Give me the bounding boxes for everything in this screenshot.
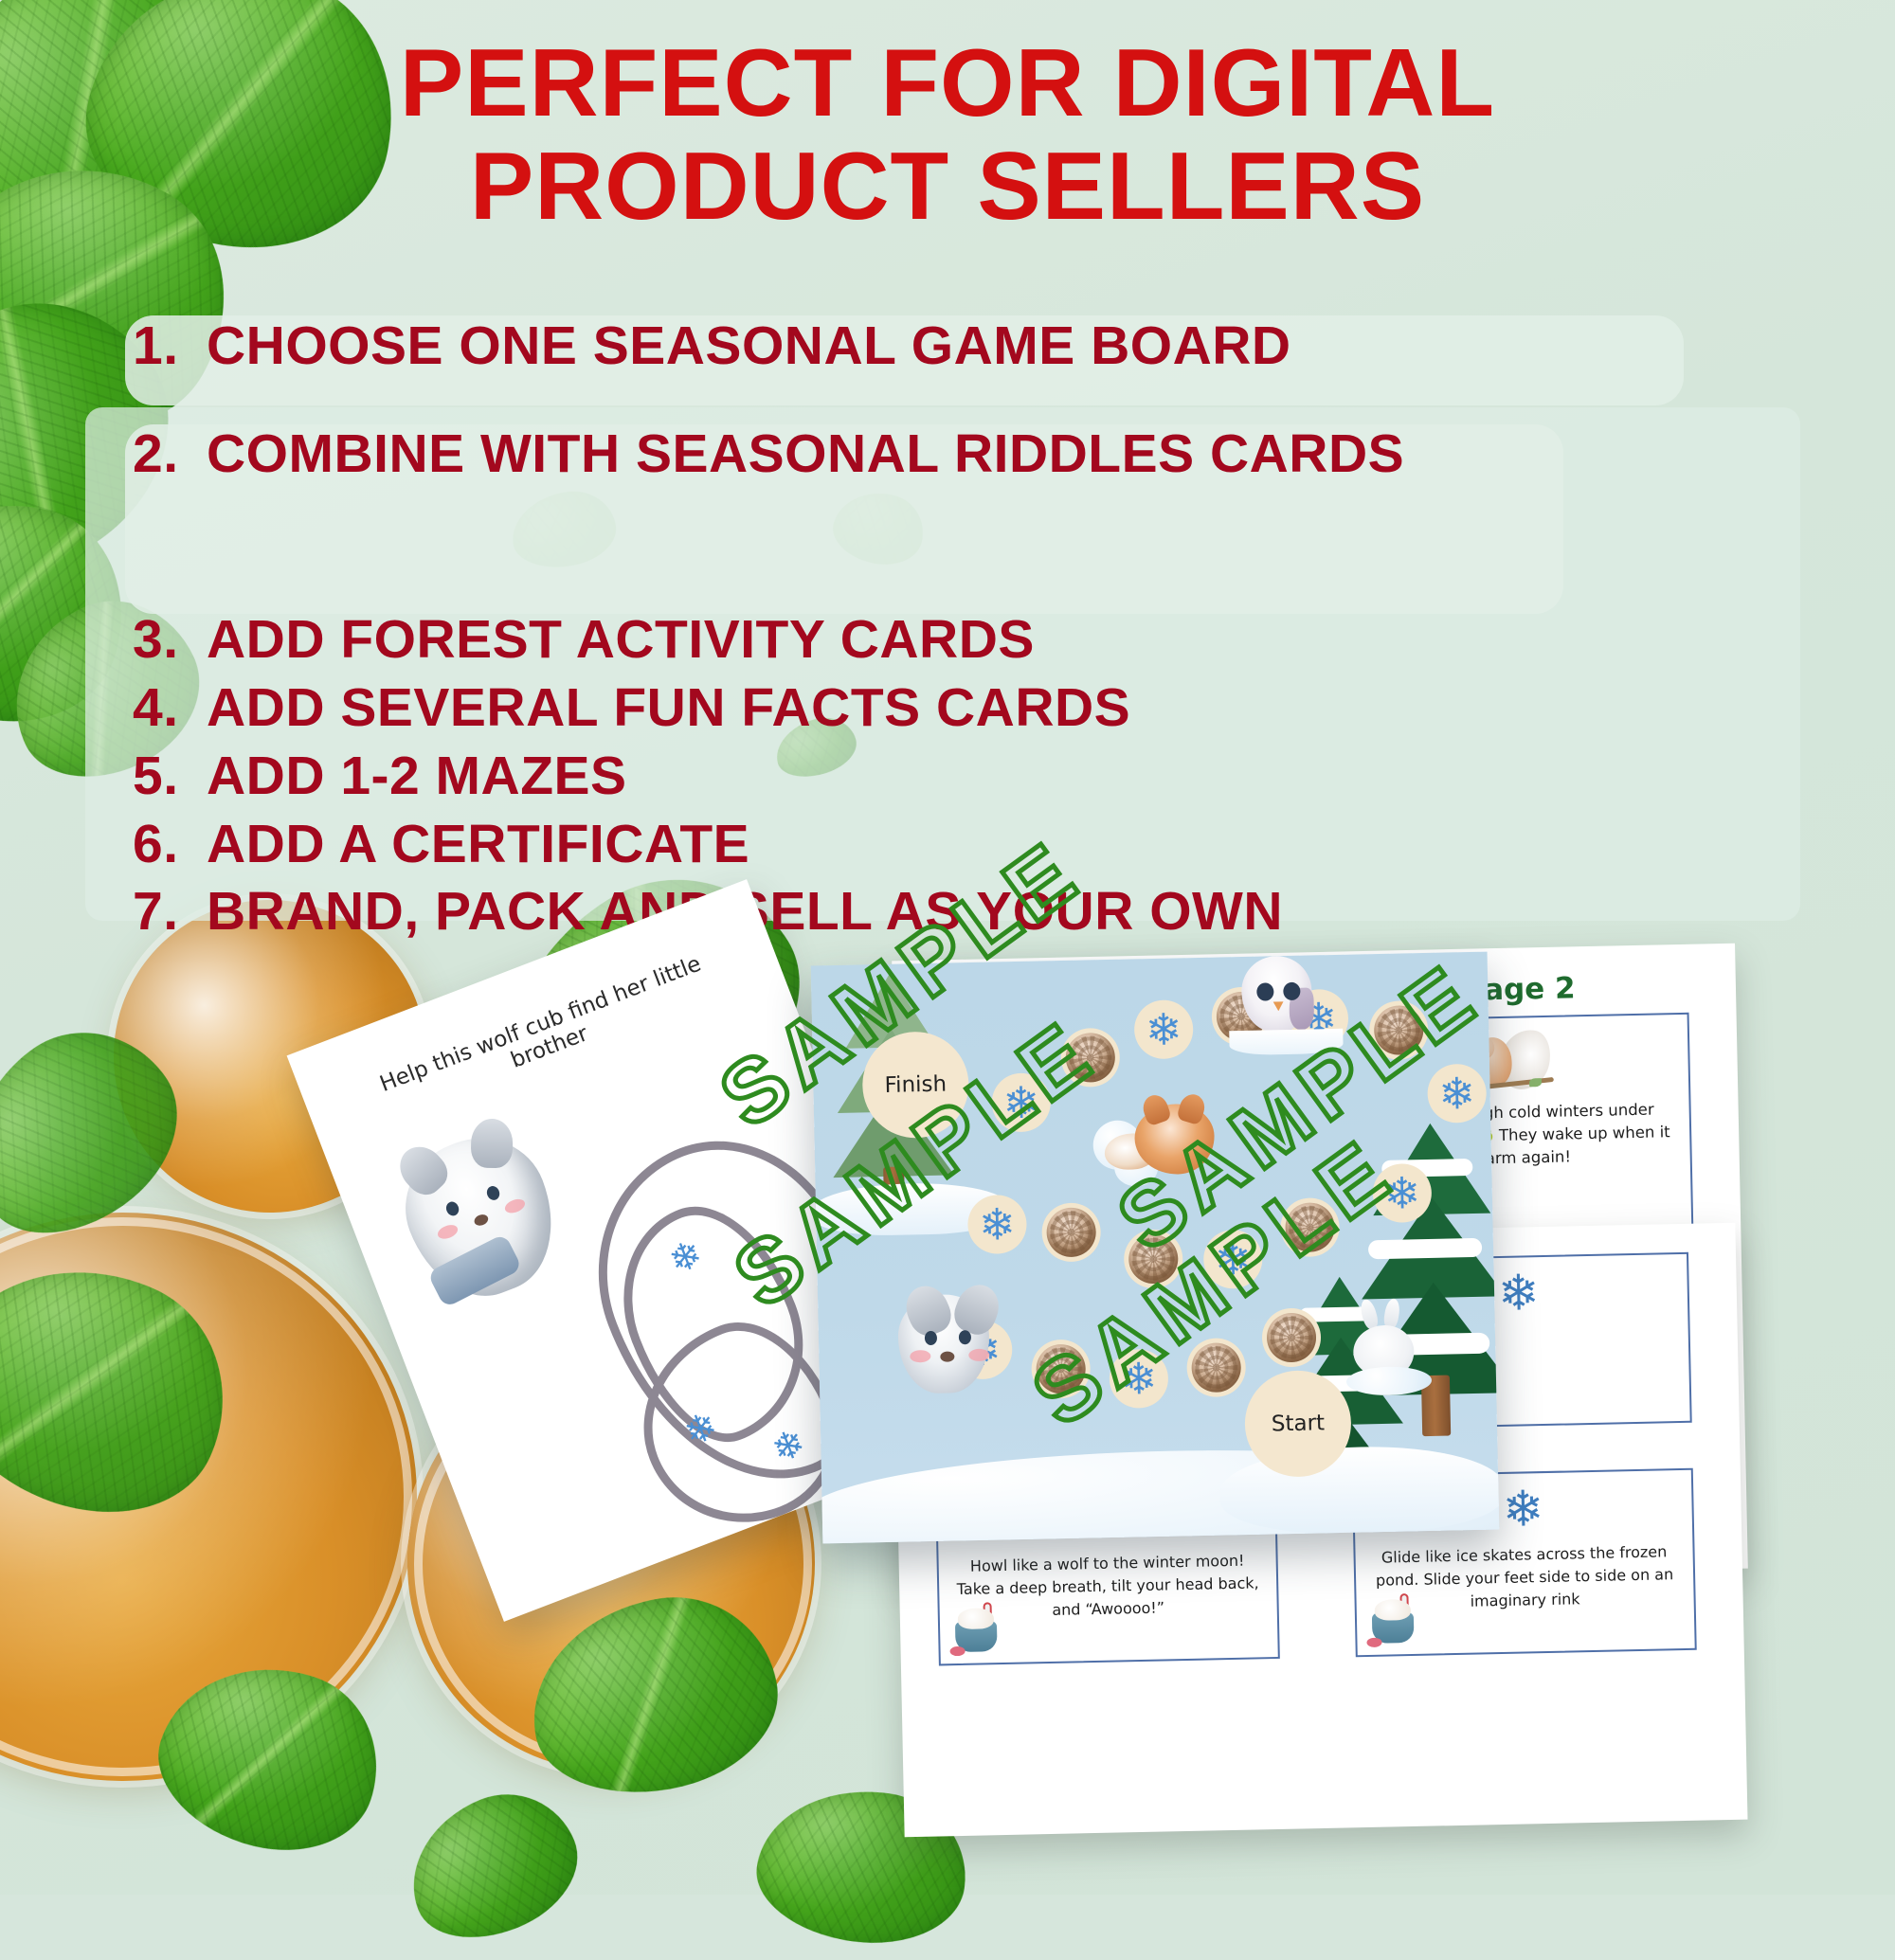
track-cell-snowflake: ❄ [1203, 1230, 1263, 1289]
fox-icon [1108, 1092, 1223, 1185]
pinecone-icon [1065, 1033, 1115, 1083]
maze-sheet-title: Help this wolf cub find her little broth… [341, 938, 748, 1133]
cocoa-mug-icon [1365, 1593, 1425, 1647]
pinecone-icon [1374, 1005, 1424, 1055]
track-cell-snowflake: ❄ [967, 1195, 1027, 1254]
track-cell-pinecone [1041, 1202, 1101, 1262]
track-cell-snowflake: ❄ [1134, 999, 1194, 1059]
snowflake-icon: ❄ [1502, 1484, 1544, 1535]
owl-icon [1218, 952, 1343, 1066]
track-cell-pinecone [1186, 1338, 1246, 1397]
pinecone-icon [1046, 1207, 1096, 1257]
track-cell-pinecone [1369, 1000, 1429, 1060]
pinecone-icon [1266, 1312, 1316, 1362]
pinecone-icon [1191, 1342, 1241, 1393]
track-cell-pinecone [1060, 1028, 1120, 1088]
track-cell-snowflake: ❄ [991, 1072, 1051, 1132]
track-cell-snowflake: ❄ [1427, 1064, 1487, 1124]
snowflake-icon: ❄ [1497, 1268, 1540, 1319]
seasonal-game-board: Finish ❄ ❄ ❄ ❄ ❄ ❄ ❄ ❄ ❄ [811, 952, 1500, 1544]
pinecone-icon [1128, 1234, 1179, 1285]
printable-mockups: Forest Fun Facts Cards - Page 2 Frogs sl… [0, 0, 1895, 1895]
track-cell-pinecone [1124, 1229, 1183, 1288]
bunny-icon [1345, 1298, 1432, 1394]
start-label: Start [1272, 1411, 1326, 1436]
finish-label: Finish [884, 1072, 947, 1098]
track-cell-pinecone [1031, 1339, 1091, 1398]
pinecone-icon [1285, 1202, 1335, 1252]
cocoa-mug-icon [949, 1602, 1009, 1656]
wolf-cub-icon [890, 1284, 1006, 1409]
pinecone-icon [1036, 1344, 1086, 1394]
track-cell-snowflake: ❄ [1109, 1349, 1168, 1409]
track-cell-pinecone [1280, 1197, 1340, 1257]
